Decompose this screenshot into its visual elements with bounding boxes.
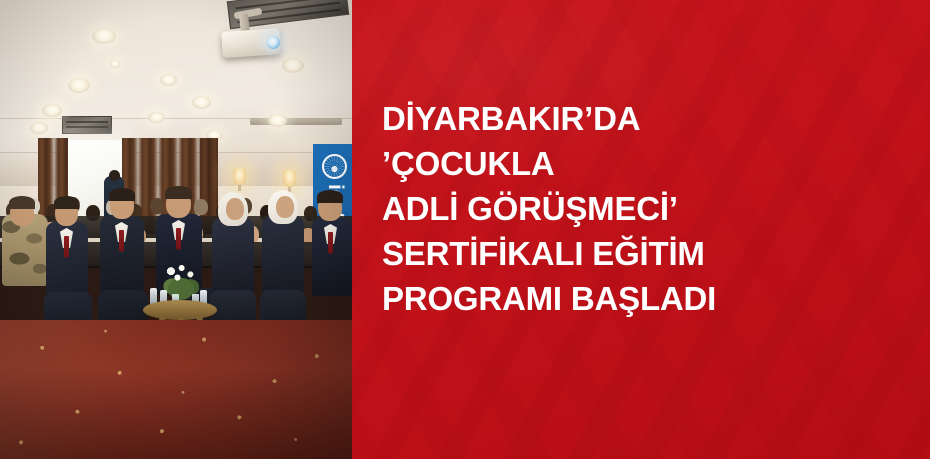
ceiling-downlight xyxy=(68,78,90,93)
ceiling-downlight xyxy=(148,112,165,123)
ceiling-downlight xyxy=(92,28,116,44)
guest-hair xyxy=(165,186,192,199)
standing-person-head xyxy=(109,170,120,181)
necktie xyxy=(328,232,333,254)
headline-line-2: ’ÇOCUKLA xyxy=(382,141,912,186)
ceiling-downlight xyxy=(268,114,287,127)
audience-head xyxy=(150,198,164,214)
seated-guest xyxy=(262,216,304,294)
air-vent-icon xyxy=(62,116,112,134)
headline-line-5: PROGRAMI BAŞLADI xyxy=(382,276,912,321)
necktie xyxy=(64,236,69,258)
audience-head xyxy=(194,199,208,215)
event-photo: icef xyxy=(0,0,352,459)
headline-line-4: SERTİFİKALI EĞİTİM xyxy=(382,231,912,276)
headline-block: DİYARBAKIR’DA ’ÇOCUKLA ADLİ GÖRÜŞMECİ’ S… xyxy=(382,96,912,321)
ceiling-downlight xyxy=(42,104,62,117)
officer-hair xyxy=(9,196,35,209)
guest-hair xyxy=(54,196,79,209)
ceiling-downlight xyxy=(282,58,304,73)
projector-lens-icon xyxy=(267,36,280,49)
headline-line-3: ADLİ GÖRÜŞMECİ’ xyxy=(382,186,912,231)
unicef-logo-icon xyxy=(322,154,347,179)
ceiling-downlight xyxy=(192,96,211,109)
guest-hair xyxy=(109,188,135,201)
ceiling-duct xyxy=(250,118,342,125)
carpet-sheen xyxy=(0,320,352,459)
headline-line-1: DİYARBAKIR’DA xyxy=(382,96,912,141)
necktie xyxy=(176,228,181,250)
seated-guest xyxy=(212,218,254,294)
side-table xyxy=(143,300,217,320)
guest-hair xyxy=(317,190,343,203)
ceiling-downlight xyxy=(30,122,48,134)
news-image: icef xyxy=(0,0,930,459)
ceiling-downlight xyxy=(160,74,177,86)
guest-head xyxy=(276,196,294,218)
ceiling-downlight xyxy=(110,60,120,68)
wall-sconce xyxy=(283,170,296,187)
guest-head xyxy=(226,198,244,220)
wall-sconce xyxy=(233,168,246,185)
necktie xyxy=(119,230,124,252)
headline-panel: DİYARBAKIR’DA ’ÇOCUKLA ADLİ GÖRÜŞMECİ’ S… xyxy=(352,0,930,459)
